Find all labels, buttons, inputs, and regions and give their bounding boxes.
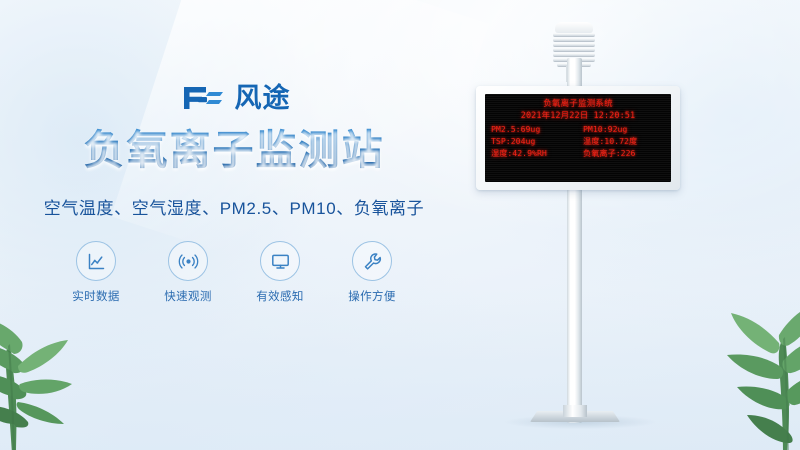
sensor-louver: [553, 48, 595, 52]
led-reading-pm25: PM2.5:69ug: [491, 124, 577, 135]
sensor-louver: [553, 33, 595, 37]
led-display-screen: 负氧离子监测系统 2021年12月22日 12:20:51 PM2.5:69ug…: [485, 94, 671, 182]
poster-stage: 风途 负氧离子监测站 空气温度、空气湿度、PM2.5、PM10、负氧离子 实时数…: [0, 0, 800, 450]
led-screen-datetime: 2021年12月22日 12:20:51: [491, 111, 665, 122]
sensor-cap: [555, 22, 593, 33]
monitoring-station: 负氧离子监测系统 2021年12月22日 12:20:51 PM2.5:69ug…: [0, 0, 800, 450]
led-readings-grid: PM2.5:69ug PM10:92ug TSP:204ug 温度:10.72度…: [491, 124, 665, 159]
led-reading-negative-oxygen-ions: 负氧离子:226: [579, 148, 665, 159]
led-display-bezel[interactable]: 负氧离子监测系统 2021年12月22日 12:20:51 PM2.5:69ug…: [476, 86, 680, 190]
led-reading-pm10: PM10:92ug: [579, 124, 665, 135]
led-reading-temperature: 温度:10.72度: [579, 136, 665, 147]
sensor-louver: [553, 38, 595, 42]
sensor-louver: [553, 43, 595, 47]
led-reading-humidity: 湿度:42.9%RH: [491, 148, 577, 159]
led-screen-title: 负氧离子监测系统: [491, 99, 665, 110]
led-reading-tsp: TSP:204ug: [491, 136, 577, 147]
base-collar: [563, 405, 587, 417]
sensor-louver: [553, 53, 595, 57]
base-plate-icon: [530, 405, 620, 425]
